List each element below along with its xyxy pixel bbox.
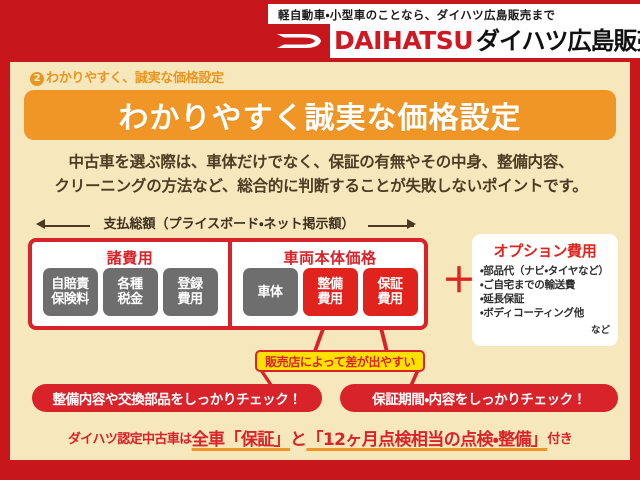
options-cost-card: オプション費用 ・部品代（ナビ・タイヤなど） ・ご自宅までの輸送費 ・延長保証 …	[472, 234, 618, 346]
cost-group-fees-chips: 自賠責 保険料 各種 税金 登録 費用	[32, 268, 228, 316]
options-item: ・延長保証	[480, 292, 610, 306]
options-suffix: など	[480, 322, 610, 336]
chip-line-2: 保険料	[51, 292, 89, 307]
chip-maintenance: 整備 費用	[303, 268, 358, 316]
chip-line-1: 自賠責	[51, 277, 89, 292]
chip-body: 車体	[243, 268, 298, 316]
chip-line-1: 登録	[177, 277, 202, 292]
options-item: ・部品代（ナビ・タイヤなど）	[480, 264, 610, 278]
footer-emphasis-2: 「12ヶ月点検相当の点検・整備」	[306, 425, 547, 450]
arrow-left-line	[44, 225, 90, 227]
arrow-left-head-icon	[36, 219, 45, 229]
callout-dealer-difference: 販売店によって差が出やすい	[255, 350, 425, 372]
footer-emphasis-1: 全車「保証」	[192, 425, 290, 450]
chip-line-2: 税金	[117, 292, 142, 307]
banner-label: 整備内容や交換部品をしっかりチェック！	[53, 388, 302, 408]
section-title-text: わかりやすく誠実な価格設定	[119, 93, 522, 137]
total-span-indicator: 支払総額（プライスボード・ネット掲示額）	[28, 214, 428, 236]
section-title-banner: わかりやすく誠実な価格設定	[24, 90, 616, 140]
options-item: ・ご自宅までの輸送費	[480, 278, 610, 292]
header-bar: 軽自動車・小型車のことなら、ダイハツ広島販売まで DAIHATSU ダイハツ広島…	[0, 0, 640, 62]
total-span-label: 支払総額（プライスボード・ネット掲示額）	[90, 214, 368, 236]
brand-name-japanese: ダイハツ広島販売	[476, 24, 640, 58]
cost-group-fees-title: 諸費用	[32, 247, 228, 268]
chip-line-1: 整備	[317, 277, 342, 292]
brand-name-latin: DAIHATSU	[334, 24, 473, 58]
lead-paragraph: 中古車を選ぶ際は、車体だけでなく、保証の有無やその中身、整備内容、 クリーニング…	[32, 150, 610, 198]
bottom-red-strip	[10, 460, 630, 480]
section-kicker: 2わかりやすく、誠実な価格設定	[30, 70, 224, 88]
section-kicker-label: わかりやすく、誠実な価格設定	[46, 71, 224, 86]
footer-part-1: ダイハツ認定中古車は	[68, 428, 192, 447]
chip-line-1: 車体	[257, 285, 282, 300]
chip-line-2: 費用	[377, 292, 402, 307]
section-number-badge: 2	[30, 72, 44, 86]
plus-sign-icon: ＋	[442, 268, 468, 294]
content-panel: 2わかりやすく、誠実な価格設定 わかりやすく誠実な価格設定 中古車を選ぶ際は、車…	[10, 62, 630, 480]
footer-part-2: 付き	[547, 428, 572, 447]
cost-group-vehicle-chips: 車体 整備 費用 保証 費用	[232, 268, 428, 316]
banner-check-warranty: 保証期間・内容をしっかりチェック！	[340, 384, 618, 412]
cost-group-fees: 諸費用 自賠責 保険料 各種 税金 登録 費用	[32, 242, 228, 334]
callout-label: 販売店によって差が出やすい	[265, 353, 415, 370]
total-box-divider	[228, 238, 232, 330]
banner-check-maintenance: 整備内容や交換部品をしっかりチェック！	[32, 384, 322, 412]
footer-conjunction: と	[290, 425, 306, 450]
chip-jibaiseki: 自賠責 保険料	[43, 268, 98, 316]
banner-label: 保証期間・内容をしっかりチェック！	[372, 388, 586, 408]
advertisement-page: 軽自動車・小型車のことなら、ダイハツ広島販売まで DAIHATSU ダイハツ広島…	[0, 0, 640, 480]
brand-logo-row: DAIHATSU ダイハツ広島販売	[268, 24, 640, 58]
options-item: ・ボディコーティング他	[480, 306, 610, 320]
brand-logo-block: 軽自動車・小型車のことなら、ダイハツ広島販売まで DAIHATSU ダイハツ広島…	[268, 4, 640, 58]
footer-statement: ダイハツ認定中古車は全車「保証」と「12ヶ月点検相当の点検・整備」付き	[10, 420, 630, 454]
chip-registration: 登録 費用	[163, 268, 218, 316]
cost-group-vehicle: 車両本体価格 車体 整備 費用 保証 費用	[232, 242, 428, 334]
header-tagline: 軽自動車・小型車のことなら、ダイハツ広島販売まで	[278, 6, 634, 24]
lead-line-2: クリーニングの方法など、総合的に判断することが失敗しないポイントです。	[32, 174, 610, 198]
options-title: オプション費用	[480, 240, 610, 261]
cost-group-vehicle-title: 車両本体価格	[232, 247, 428, 268]
arrow-right-head-icon	[407, 219, 416, 229]
chip-taxes: 各種 税金	[103, 268, 158, 316]
lead-line-1: 中古車を選ぶ際は、車体だけでなく、保証の有無やその中身、整備内容、	[32, 150, 610, 174]
chip-line-1: 各種	[117, 277, 142, 292]
chip-warranty: 保証 費用	[363, 268, 418, 316]
chip-line-1: 保証	[377, 277, 402, 292]
chip-line-2: 費用	[317, 292, 342, 307]
daihatsu-d-mark-icon	[268, 24, 330, 58]
chip-line-2: 費用	[177, 292, 202, 307]
